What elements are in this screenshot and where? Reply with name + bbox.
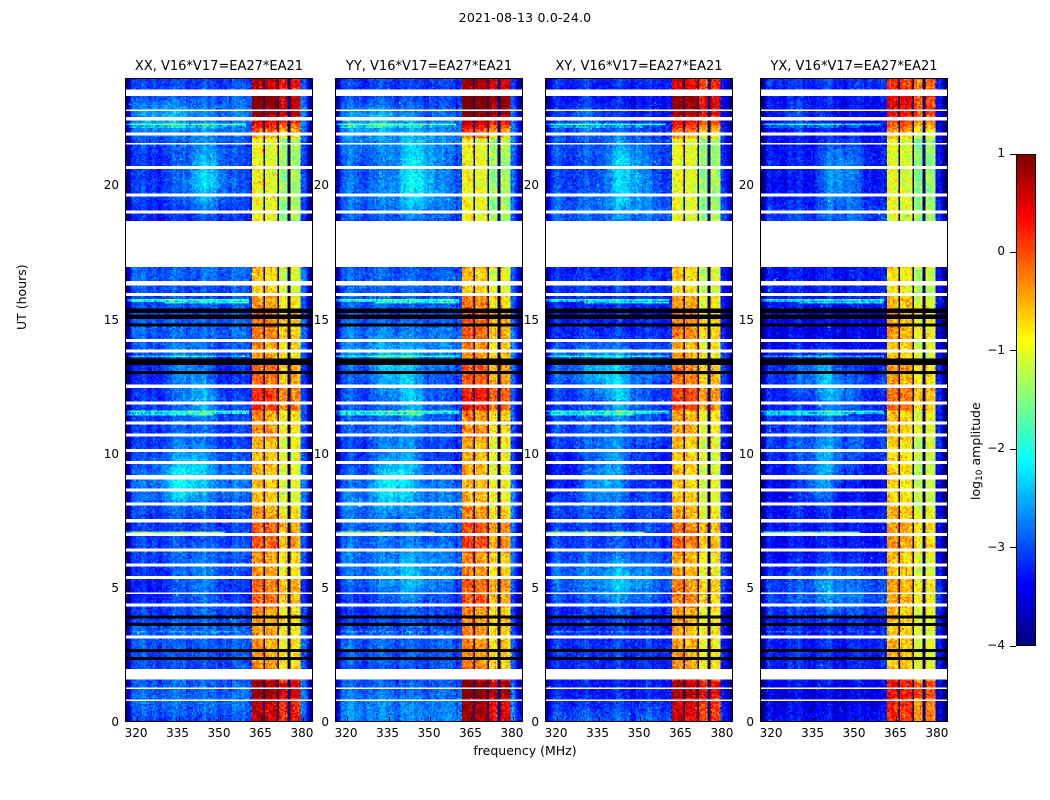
x-tick <box>640 717 641 721</box>
x-tick <box>261 717 262 721</box>
x-tick-label: 380 <box>917 726 957 740</box>
y-tick-label: 10 <box>505 448 539 460</box>
x-tick <box>137 717 138 721</box>
y-tick-label: 20 <box>85 179 119 191</box>
colorbar-tick <box>1010 252 1016 253</box>
x-tick <box>471 717 472 721</box>
x-tick-label: 350 <box>619 726 659 740</box>
colorbar-tick-label: −1 <box>975 344 1005 356</box>
y-tick <box>336 321 340 322</box>
y-tick-label: 10 <box>85 448 119 460</box>
panel-title-yx: YX, V16*V17=EA27*EA21 <box>760 59 948 77</box>
x-tick-label: 365 <box>240 726 280 740</box>
x-tick <box>938 717 939 721</box>
y-tick <box>943 321 947 322</box>
waterfall-image-yy <box>336 79 522 721</box>
waterfall-image-xx <box>126 79 312 721</box>
y-tick <box>336 186 340 187</box>
y-tick <box>546 186 550 187</box>
y-tick <box>546 589 550 590</box>
x-tick <box>599 717 600 721</box>
y-tick-label: 15 <box>295 314 329 326</box>
colorbar-tick-label: 0 <box>975 245 1005 257</box>
x-tick-label: 320 <box>116 726 156 740</box>
x-tick <box>389 717 390 721</box>
x-tick-label: 380 <box>492 726 532 740</box>
y-tick <box>761 455 765 456</box>
waterfall-panel-xx[interactable] <box>125 78 313 722</box>
y-tick <box>761 321 765 322</box>
waterfall-image-yx <box>761 79 947 721</box>
y-tick <box>943 589 947 590</box>
x-tick <box>557 717 558 721</box>
x-tick-label: 365 <box>875 726 915 740</box>
colorbar <box>1016 154 1036 646</box>
x-tick-label: 335 <box>793 726 833 740</box>
x-tick-label: 380 <box>282 726 322 740</box>
x-tick <box>220 717 221 721</box>
x-tick-label: 380 <box>702 726 742 740</box>
y-tick-label: 5 <box>85 582 119 594</box>
y-tick <box>336 455 340 456</box>
y-tick-label: 0 <box>720 716 754 728</box>
x-tick-label: 320 <box>751 726 791 740</box>
x-tick <box>347 717 348 721</box>
y-tick <box>761 186 765 187</box>
y-tick <box>126 186 130 187</box>
y-tick-label: 5 <box>720 582 754 594</box>
x-tick <box>179 717 180 721</box>
x-tick <box>855 717 856 721</box>
y-tick-label: 0 <box>505 716 539 728</box>
colorbar-label: log10 amplitude <box>968 402 985 500</box>
colorbar-tick <box>1010 350 1016 351</box>
panel-title-yy: YY, V16*V17=EA27*EA21 <box>335 59 523 77</box>
colorbar-tick-label: −3 <box>975 541 1005 553</box>
y-tick-label: 15 <box>85 314 119 326</box>
y-tick <box>943 186 947 187</box>
x-tick <box>430 717 431 721</box>
x-tick-label: 350 <box>199 726 239 740</box>
y-tick-label: 0 <box>295 716 329 728</box>
x-tick-label: 320 <box>326 726 366 740</box>
figure-suptitle: 2021-08-13 0.0-24.0 <box>0 10 1050 25</box>
y-tick <box>126 321 130 322</box>
waterfall-panel-yx[interactable] <box>760 78 948 722</box>
y-tick <box>761 589 765 590</box>
colorbar-tick <box>1010 449 1016 450</box>
x-tick-label: 350 <box>409 726 449 740</box>
x-tick <box>772 717 773 721</box>
y-tick <box>336 589 340 590</box>
colorbar-tick-label: 1 <box>975 147 1005 159</box>
waterfall-panel-yy[interactable] <box>335 78 523 722</box>
y-axis-label: UT (hours) <box>14 264 29 330</box>
x-tick-label: 365 <box>450 726 490 740</box>
y-tick-label: 5 <box>295 582 329 594</box>
y-tick <box>126 589 130 590</box>
y-tick <box>546 321 550 322</box>
colorbar-tick <box>1010 646 1016 647</box>
colorbar-tick <box>1010 154 1016 155</box>
y-tick-label: 15 <box>720 314 754 326</box>
y-tick-label: 20 <box>505 179 539 191</box>
panel-title-xx: XX, V16*V17=EA27*EA21 <box>125 59 313 77</box>
colorbar-tick-label: −4 <box>975 639 1005 651</box>
y-tick-label: 10 <box>295 448 329 460</box>
y-tick-label: 20 <box>295 179 329 191</box>
x-tick <box>814 717 815 721</box>
y-tick <box>943 455 947 456</box>
x-tick-label: 365 <box>660 726 700 740</box>
x-tick-label: 320 <box>536 726 576 740</box>
panel-title-xy: XY, V16*V17=EA27*EA21 <box>545 59 733 77</box>
x-tick-label: 350 <box>834 726 874 740</box>
colorbar-tick <box>1010 547 1016 548</box>
waterfall-panel-xy[interactable] <box>545 78 733 722</box>
y-tick <box>546 455 550 456</box>
x-axis-label: frequency (MHz) <box>0 743 1050 758</box>
y-tick-label: 20 <box>720 179 754 191</box>
x-tick-label: 335 <box>158 726 198 740</box>
x-tick <box>896 717 897 721</box>
waterfall-image-xy <box>546 79 732 721</box>
y-tick-label: 10 <box>720 448 754 460</box>
y-tick-label: 5 <box>505 582 539 594</box>
x-tick <box>681 717 682 721</box>
y-tick-label: 15 <box>505 314 539 326</box>
y-tick <box>126 455 130 456</box>
x-tick-label: 335 <box>368 726 408 740</box>
x-tick-label: 335 <box>578 726 618 740</box>
y-tick-label: 0 <box>85 716 119 728</box>
